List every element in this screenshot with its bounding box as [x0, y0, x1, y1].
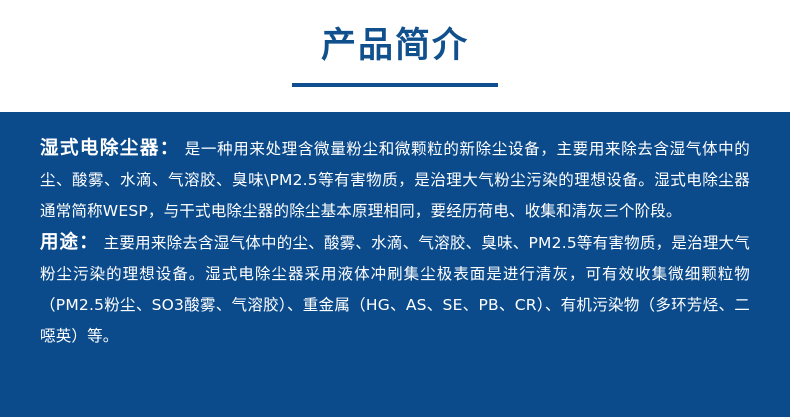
- product-intro-page: 产品简介 湿式电除尘器：是一种用来处理含微量粉尘和微颗粒的新除尘设备，主要用来除…: [0, 0, 790, 417]
- page-header: 产品简介: [0, 0, 790, 112]
- product-description-panel: 湿式电除尘器：是一种用来处理含微量粉尘和微颗粒的新除尘设备，主要用来除去含湿气体…: [0, 112, 790, 417]
- paragraph-label-usage: 用途：: [40, 232, 99, 253]
- title-underline-rule: [292, 83, 498, 87]
- paragraph-wet-esp: 湿式电除尘器：是一种用来处理含微量粉尘和微颗粒的新除尘设备，主要用来除去含湿气体…: [40, 133, 750, 227]
- paragraph-body-usage: 主要用来除去含湿气体中的尘、酸雾、水滴、气溶胶、臭味、PM2.5等有害物质，是治…: [40, 234, 750, 345]
- paragraph-usage: 用途：主要用来除去含湿气体中的尘、酸雾、水滴、气溶胶、臭味、PM2.5等有害物质…: [40, 227, 750, 352]
- paragraph-label-wet-esp: 湿式电除尘器：: [40, 138, 180, 159]
- page-title: 产品简介: [321, 23, 469, 69]
